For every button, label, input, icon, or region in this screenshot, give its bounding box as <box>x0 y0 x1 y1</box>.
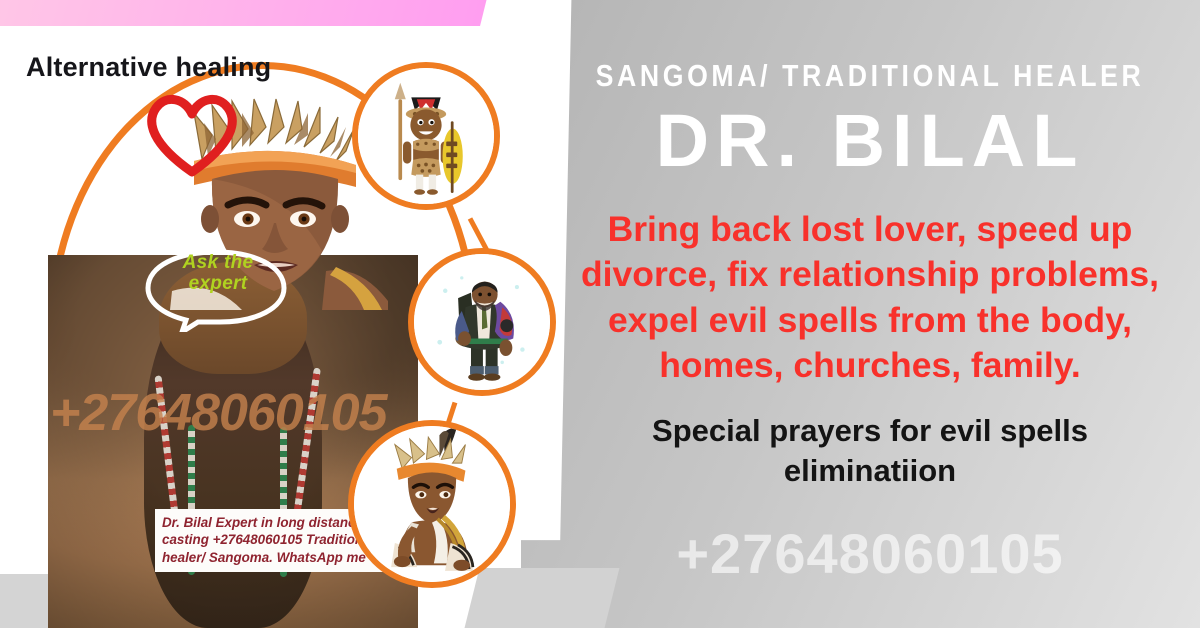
services-text: Bring back lost lover, speed up divorce,… <box>564 207 1176 389</box>
ghost-phone-number: +27648060105 <box>540 521 1200 586</box>
page-title: DR. BILAL <box>540 98 1200 183</box>
decor-bar-pink-top <box>0 0 490 26</box>
circle-crouching-sangoma-icon <box>348 420 516 588</box>
alternative-healing-heading: Alternative healing <box>26 52 271 83</box>
circle-zulu-warrior-icon <box>352 62 500 210</box>
right-content-column: SANGOMA/ TRADITIONAL HEALER DR. BILAL Br… <box>540 0 1200 628</box>
poster-canvas: Alternative healing <box>0 0 1200 628</box>
ask-the-expert-line1: Ask the <box>183 252 254 273</box>
prayers-text: Special prayers for evil spells eliminat… <box>590 411 1150 492</box>
ask-the-expert-label: Ask the expert <box>152 252 284 295</box>
eyebrow-title: SANGOMA/ TRADITIONAL HEALER <box>586 58 1154 94</box>
ask-the-expert-line2: expert <box>189 273 248 294</box>
photo-watermark-phone: +27648060105 <box>50 383 387 443</box>
circle-traditional-healer-icon <box>408 248 556 396</box>
red-heart-outline-icon <box>140 82 244 178</box>
